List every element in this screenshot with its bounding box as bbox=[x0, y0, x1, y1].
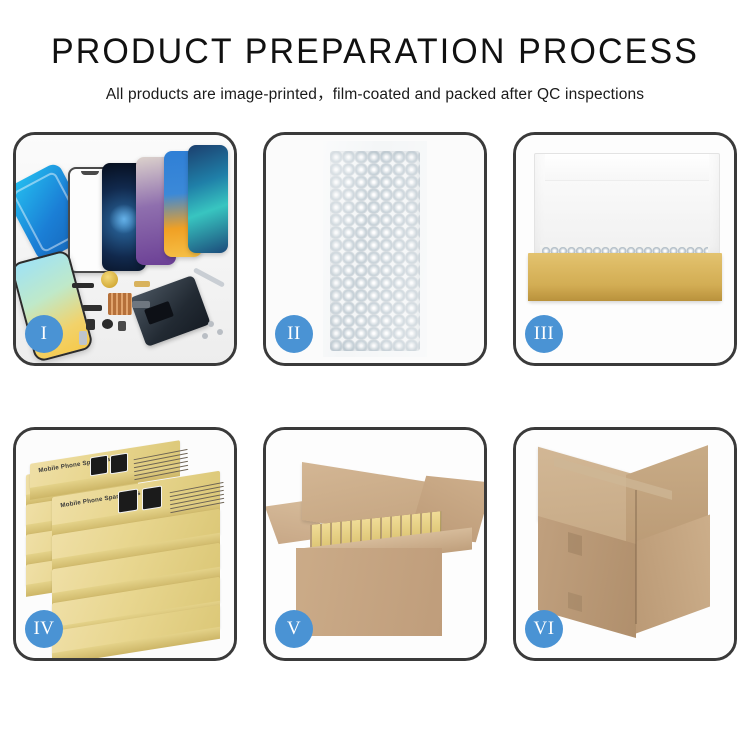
part-small-module-1 bbox=[86, 319, 95, 330]
step-panel-carton-loading[interactable]: V bbox=[263, 427, 487, 661]
spare-parts-box bbox=[52, 556, 220, 582]
step-panel-products-and-parts[interactable]: I bbox=[13, 132, 237, 366]
step-panel-inner-box-packing[interactable]: III bbox=[513, 132, 737, 366]
part-flex-cable-1 bbox=[82, 305, 102, 311]
step-cell-6: VI bbox=[500, 428, 750, 660]
process-steps-grid: I II III bbox=[0, 133, 750, 660]
part-camera-module bbox=[79, 331, 87, 345]
box-print-screen-2 bbox=[110, 453, 128, 475]
carton-tab-upper bbox=[568, 532, 582, 556]
part-speaker-coil bbox=[101, 271, 118, 288]
part-connector-bar bbox=[72, 283, 94, 288]
part-screw-1 bbox=[208, 321, 214, 327]
step-cell-5: V bbox=[250, 428, 500, 660]
part-small-module-2 bbox=[102, 319, 113, 329]
step-panel-boxes-stacked[interactable]: Mobile Phone Spare Parts Mobile Phone Sp… bbox=[13, 427, 237, 661]
step-badge-5: V bbox=[275, 610, 313, 648]
carton-front-face bbox=[296, 548, 442, 636]
phone-teal-gradient bbox=[188, 145, 228, 253]
step-cell-1: I bbox=[0, 133, 250, 365]
step-cell-2: II bbox=[250, 133, 500, 365]
part-flex-cable-2 bbox=[134, 281, 150, 287]
spare-parts-box-printed: Mobile Phone Spare Parts bbox=[52, 484, 220, 514]
spare-parts-box-printed: Mobile Phone Spare Parts bbox=[30, 452, 180, 478]
part-flex-cable-3 bbox=[132, 301, 150, 308]
step-badge-3: III bbox=[525, 315, 563, 353]
part-screw-3 bbox=[202, 333, 208, 339]
step-badge-6: VI bbox=[525, 610, 563, 648]
step-badge-1: I bbox=[25, 315, 63, 353]
part-chip-grid bbox=[108, 293, 132, 315]
inner-box-tray-front bbox=[528, 285, 722, 301]
part-screw-2 bbox=[217, 329, 223, 335]
box-print-screen-1 bbox=[90, 455, 108, 477]
bubble-wrap-sleeve bbox=[323, 141, 427, 357]
step-panel-carton-sealed[interactable]: VI bbox=[513, 427, 737, 661]
step-cell-3: III bbox=[500, 133, 750, 365]
carton-corner-seam bbox=[635, 490, 637, 624]
step-panel-bubble-wrapping[interactable]: II bbox=[263, 132, 487, 366]
page-subtitle: All products are image-printed，film-coat… bbox=[0, 82, 750, 104]
step-cell-4: Mobile Phone Spare Parts Mobile Phone Sp… bbox=[0, 428, 250, 660]
page-title: PRODUCT PREPARATION PROCESS bbox=[11, 34, 739, 71]
step-badge-2: II bbox=[275, 315, 313, 353]
page-header: PRODUCT PREPARATION PROCESS All products… bbox=[0, 0, 750, 104]
step-badge-4: IV bbox=[25, 610, 63, 648]
box-print-screen-2 bbox=[142, 485, 162, 510]
spare-parts-box bbox=[52, 522, 220, 548]
box-print-screen-1 bbox=[118, 488, 138, 513]
spare-parts-box bbox=[52, 618, 220, 642]
part-small-module-3 bbox=[118, 321, 126, 331]
bubble-texture bbox=[330, 151, 420, 351]
